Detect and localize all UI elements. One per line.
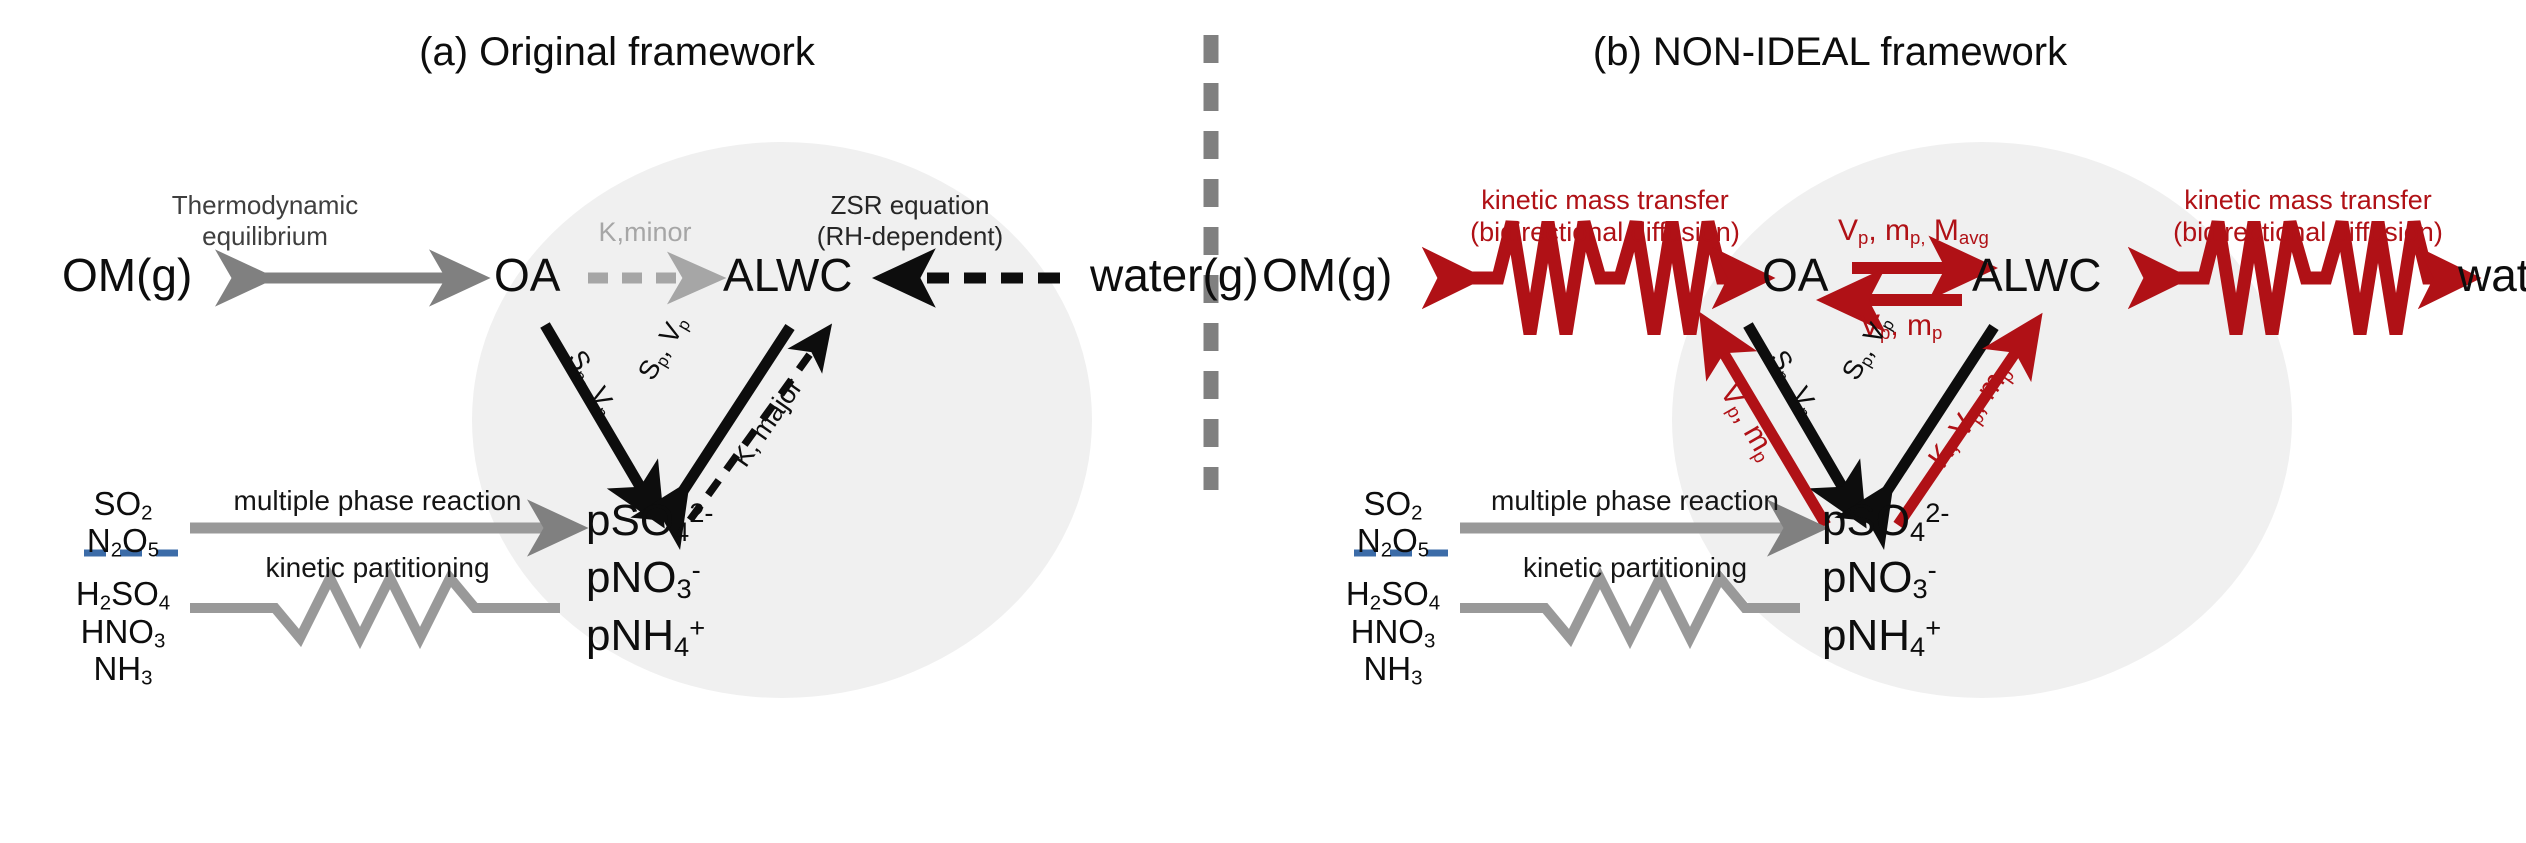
species-n2o5: N2O5 [1318,524,1468,561]
panel-a-kinetic-partitioning-label: kinetic partitioning [215,552,540,584]
product-psulfate: pSO42- [1822,492,1949,549]
panel-a-title: (a) Original framework [407,30,827,75]
species-nh3: NH3 [1318,652,1468,689]
panel-a-multiple-phase-reaction-label: multiple phase reaction [205,485,550,517]
panel-b-precursor-list: SO2 N2O5 H2SO4 HNO3 NH3 [1318,487,1468,689]
panel-b-node-oa: OA [1762,252,1828,298]
panel-b-title: (b) NON-IDEAL framework [1590,30,2070,75]
panel-a-node-om-gas: OM(g) [62,252,192,298]
zsr-line-1: ZSR equation [795,190,1025,221]
panel-a-kinetic-partitioning-zigzag [190,578,560,638]
kmt-left-line-2: (bidirectional diffusion) [1455,217,1755,249]
species-so2: SO2 [48,487,198,524]
product-pnitrate: pNO3- [586,549,713,606]
panel-b-node-om-gas: OM(g) [1262,252,1392,298]
species-n2o5: N2O5 [48,524,198,561]
panel-b-left-kmt-caption: kinetic mass transfer (bidirectional dif… [1455,185,1755,249]
species-h2so4: H2SO4 [48,577,198,614]
panel-b-node-alwc: ALWC [1972,252,2102,298]
panel-a-node-oa: OA [494,252,560,298]
product-psulfate: pSO42- [586,492,713,549]
panel-a-product-list: pSO42- pNO3- pNH4+ [586,492,713,664]
figure-canvas: ALWC light gray dashed --> ALWC black da… [0,0,2526,843]
panel-a-thermo-caption: Thermodynamic equilibrium [150,190,380,251]
thermo-line-1: Thermodynamic [150,190,380,221]
product-pammonium: pNH4+ [586,607,713,664]
panel-b-node-water-gas: water(g) [2458,252,2526,298]
panel-b-product-list: pSO42- pNO3- pNH4+ [1822,492,1949,664]
product-pnitrate: pNO3- [1822,549,1949,606]
panel-a-zsr-caption: ZSR equation (RH-dependent) [795,190,1025,251]
vector-layer: ALWC light gray dashed --> ALWC black da… [0,0,2526,843]
panel-b-kinetic-partitioning-label: kinetic partitioning [1480,552,1790,584]
species-hno3: HNO3 [1318,615,1468,652]
panel-a-k-minor-caption: K,minor [575,218,715,248]
species-so2: SO2 [1318,487,1468,524]
panel-a-node-alwc: ALWC [723,252,853,298]
species-hno3: HNO3 [48,615,198,652]
panel-a-precursor-list: SO2 N2O5 H2SO4 HNO3 NH3 [48,487,198,689]
panel-b-right-kmt-caption: kinetic mass transfer (bidirectional dif… [2158,185,2458,249]
kmt-right-line-2: (bidirectional diffusion) [2158,217,2458,249]
panel-b-multiple-phase-reaction-label: multiple phase reaction [1470,485,1800,517]
thermo-line-2: equilibrium [150,221,380,252]
panel-a-node-water-gas: water(g) [1090,252,1259,298]
panel-b-oa-to-alwc-label: Vp, mp, Mavg [1838,214,1989,249]
kmt-right-line-1: kinetic mass transfer [2158,185,2458,217]
species-nh3: NH3 [48,652,198,689]
kmt-left-line-1: kinetic mass transfer [1455,185,1755,217]
product-pammonium: pNH4+ [1822,607,1949,664]
species-h2so4: H2SO4 [1318,577,1468,614]
zsr-line-2: (RH-dependent) [795,221,1025,252]
